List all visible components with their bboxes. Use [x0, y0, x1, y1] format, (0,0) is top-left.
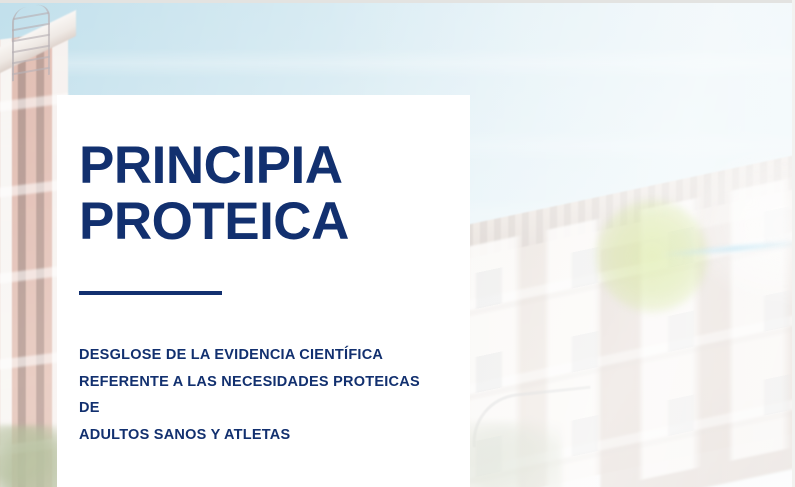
page-subtitle-line-3: ADULTOS SANOS Y ATLETAS [79, 422, 429, 449]
title-card: PRINCIPIA PROTEICA DESGLOSE DE LA EVIDEN… [57, 95, 470, 487]
page-title: PRINCIPIA PROTEICA [79, 138, 430, 250]
page-title-line-2: PROTEICA [79, 194, 430, 250]
page-subtitle-line-1: DESGLOSE DE LA EVIDENCIA CIENTÍFICA [79, 342, 429, 369]
page-subtitle-line-2: REFERENTE A LAS NECESIDADES PROTEICAS DE [79, 369, 429, 422]
page-subtitle: DESGLOSE DE LA EVIDENCIA CIENTÍFICA REFE… [79, 342, 429, 448]
page-title-line-1: PRINCIPIA [79, 138, 430, 194]
title-slide: PRINCIPIA PROTEICA DESGLOSE DE LA EVIDEN… [0, 0, 795, 487]
fire-escape-ladder-icon [12, 3, 50, 82]
title-divider [79, 291, 222, 295]
